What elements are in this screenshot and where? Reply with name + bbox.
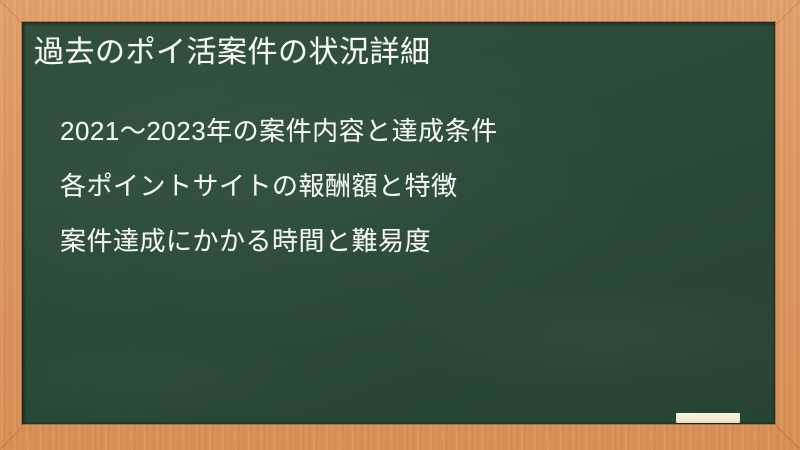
frame-corner-top-right	[776, 0, 800, 25]
bullet-item-1: 2021〜2023年の案件内容と達成条件	[60, 104, 760, 159]
frame-corner-top-left	[0, 0, 23, 23]
chalk-stick-icon	[676, 413, 740, 423]
slide-title: 過去のポイ活案件の状況詳細	[34, 34, 431, 72]
chalkboard-slide: 過去のポイ活案件の状況詳細 2021〜2023年の案件内容と達成条件 各ポイント…	[0, 0, 800, 450]
chalkboard-surface: 過去のポイ活案件の状況詳細 2021〜2023年の案件内容と達成条件 各ポイント…	[22, 22, 775, 424]
bullet-list: 2021〜2023年の案件内容と達成条件 各ポイントサイトの報酬額と特徴 案件達…	[60, 104, 760, 269]
bullet-item-2: 各ポイントサイトの報酬額と特徴	[60, 159, 760, 214]
bullet-item-3: 案件達成にかかる時間と難易度	[60, 214, 760, 269]
frame-corner-bottom-left	[0, 427, 23, 450]
frame-corner-bottom-right	[776, 425, 800, 450]
